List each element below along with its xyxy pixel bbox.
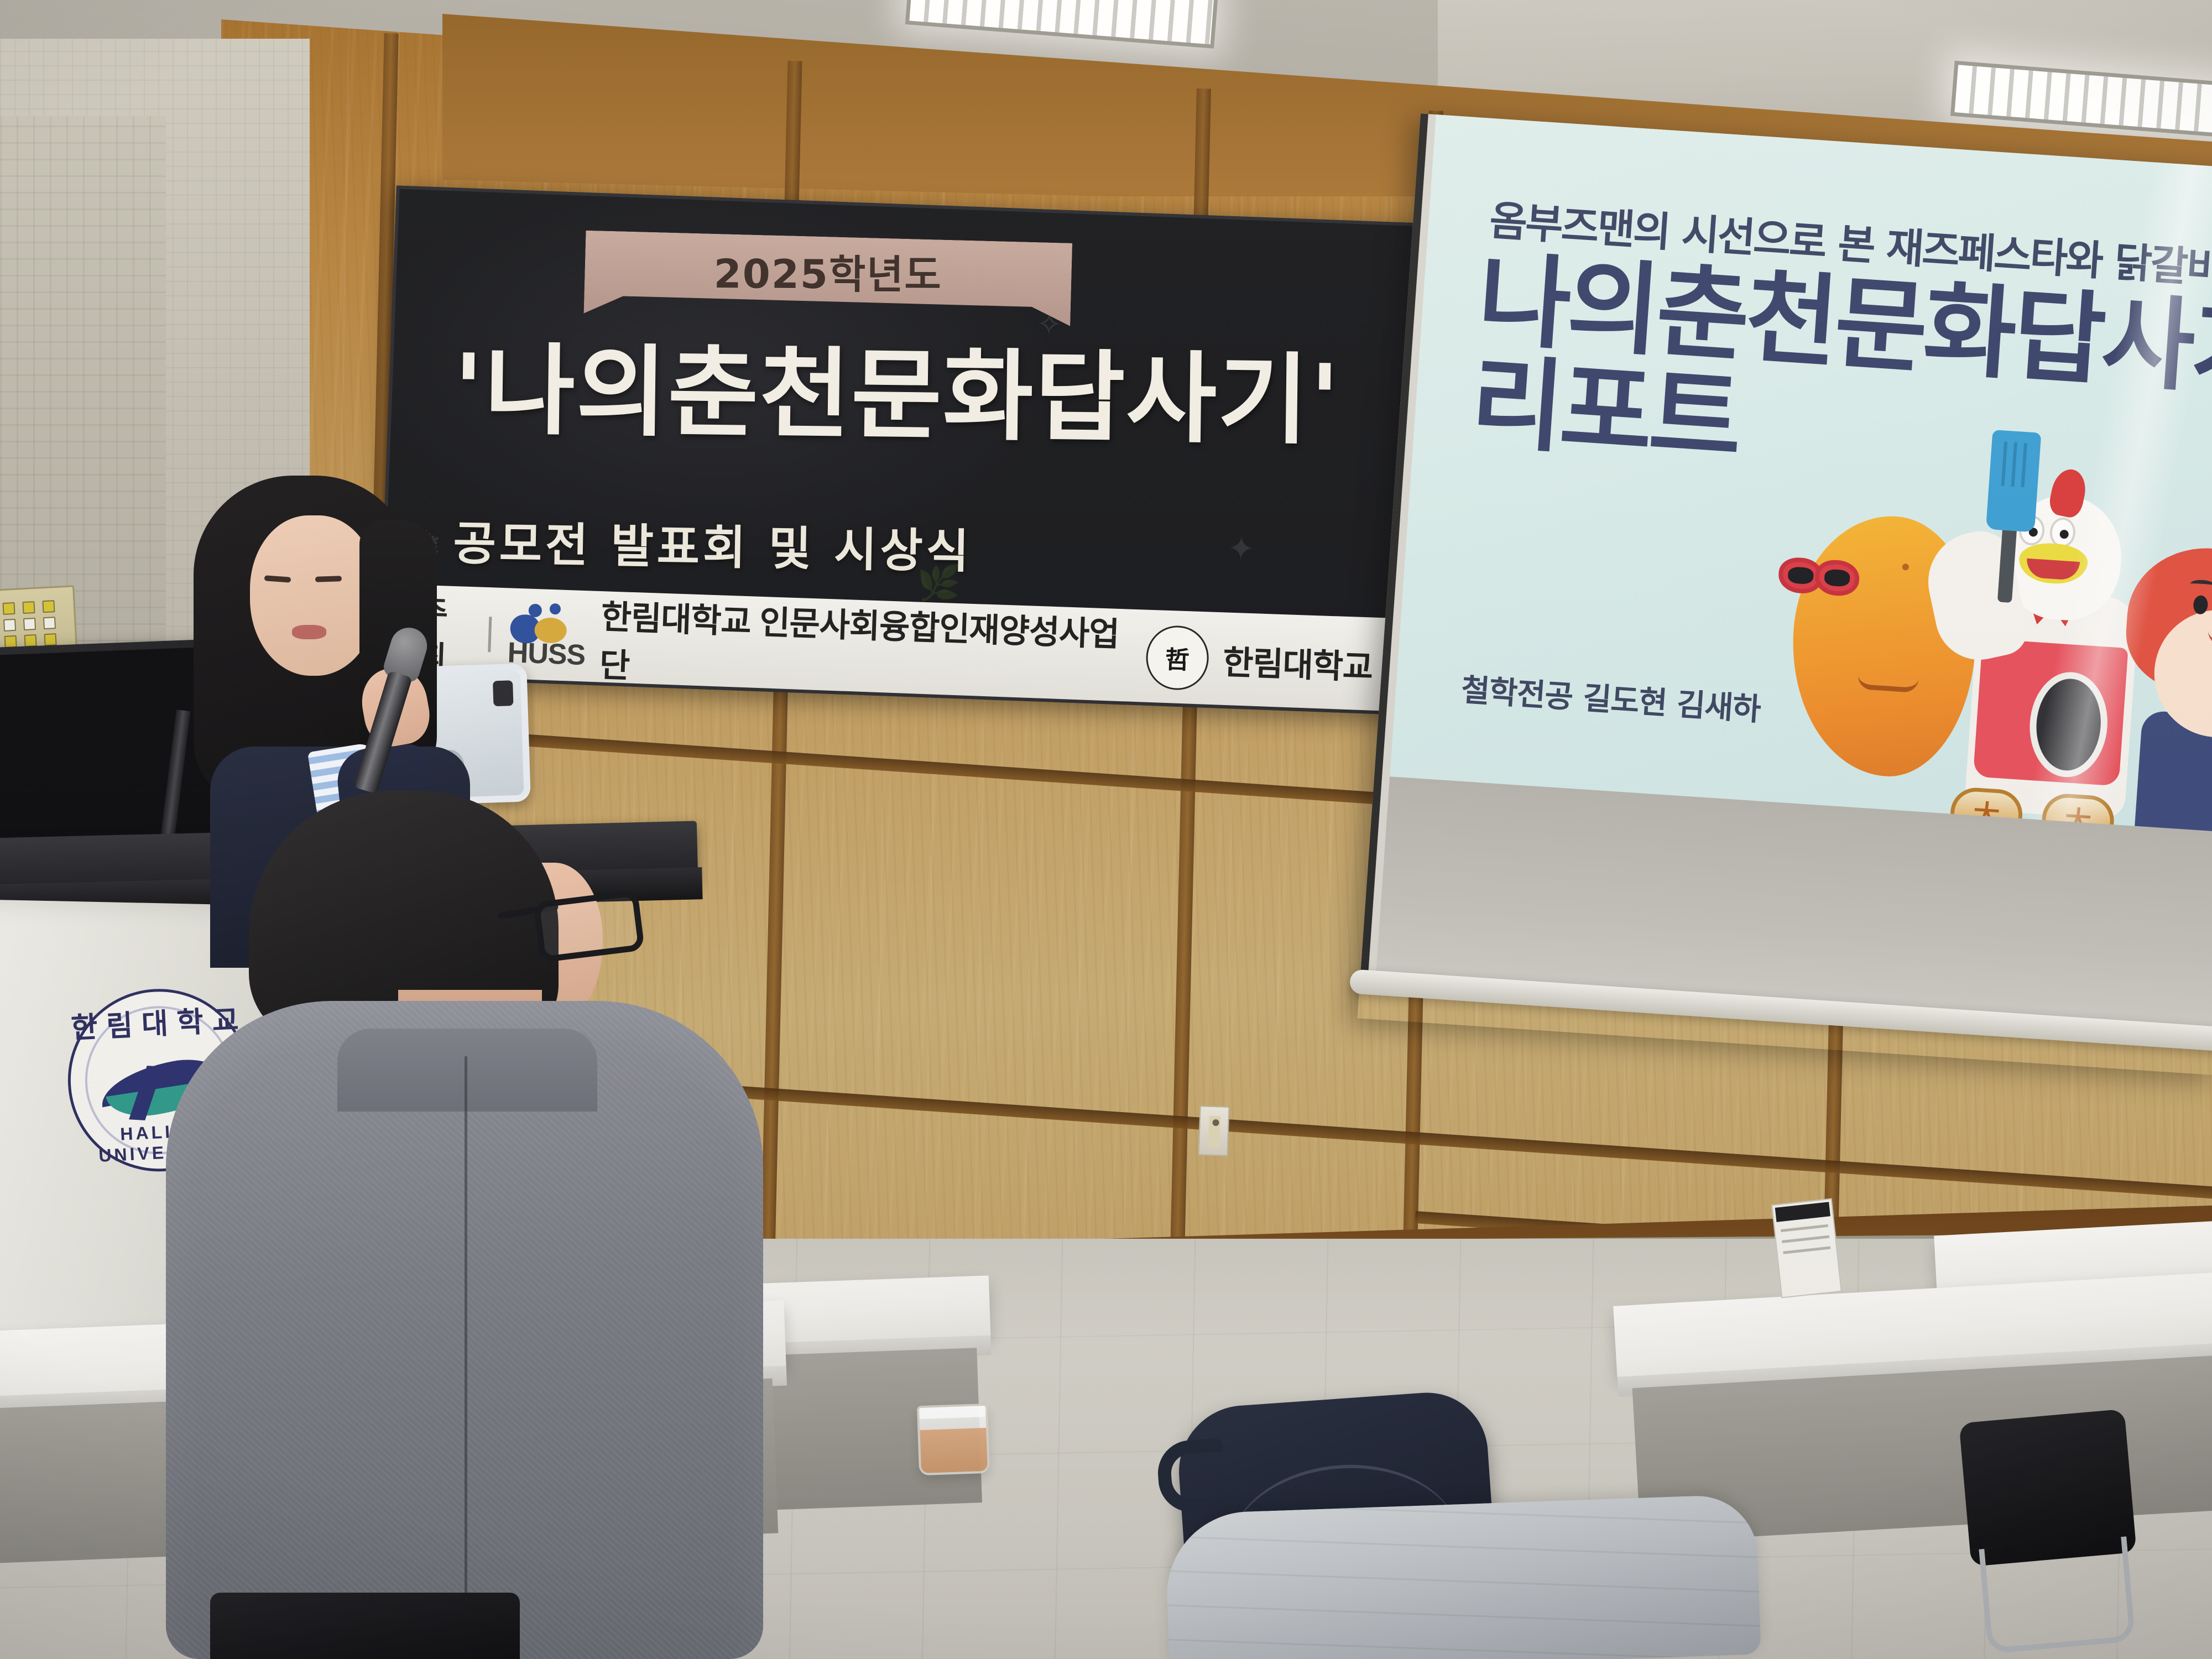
table-card-label [1771, 1198, 1842, 1298]
audience-jacket-seam [465, 1056, 467, 1598]
presentation-slide: 옴부즈맨의 시선으로 본 재즈페스타와 닭갈비막국수 축제 나의춘천문화답사기 … [1390, 114, 2212, 833]
organizer-name-1: 한림대학교 인문사회융합인재양성사업단 [599, 590, 1134, 705]
chalk-sparkle-icon: ✦ [1227, 529, 1255, 568]
screen-surface: 옴부즈맨의 시선으로 본 재즈페스타와 닭갈비막국수 축제 나의춘천문화답사기 … [1360, 113, 2212, 1031]
chair[interactable] [1959, 1409, 2144, 1655]
audience-person [155, 791, 774, 1659]
banner-year-text: 2025학년도 [714, 241, 943, 300]
slide-authors: 철학전공 길도현 김새하 [1460, 665, 1762, 730]
drink-cup[interactable] [917, 1404, 990, 1475]
lecture-hall-scene: ❄ ✦ ✧ 🌿 2025학년도 '나의춘천문화답사기' 공모전 발표회 및 시상… [0, 0, 2212, 1659]
projection-screen: 옴부즈맨의 시선으로 본 재즈페스타와 닭갈비막국수 축제 나의춘천문화답사기 … [1358, 113, 2212, 1075]
glasses-icon [533, 890, 645, 963]
audience-jacket-collar [337, 1029, 597, 1112]
banner-title: '나의춘천문화답사기' [453, 341, 1416, 451]
presenter-mouth [292, 625, 326, 639]
chair-foreground[interactable] [210, 1593, 520, 1659]
philosophy-seal-icon: 哲 [1145, 625, 1210, 691]
wall-outlet-plate[interactable] [1198, 1105, 1229, 1156]
puffer-jacket[interactable] [1164, 1494, 1761, 1659]
